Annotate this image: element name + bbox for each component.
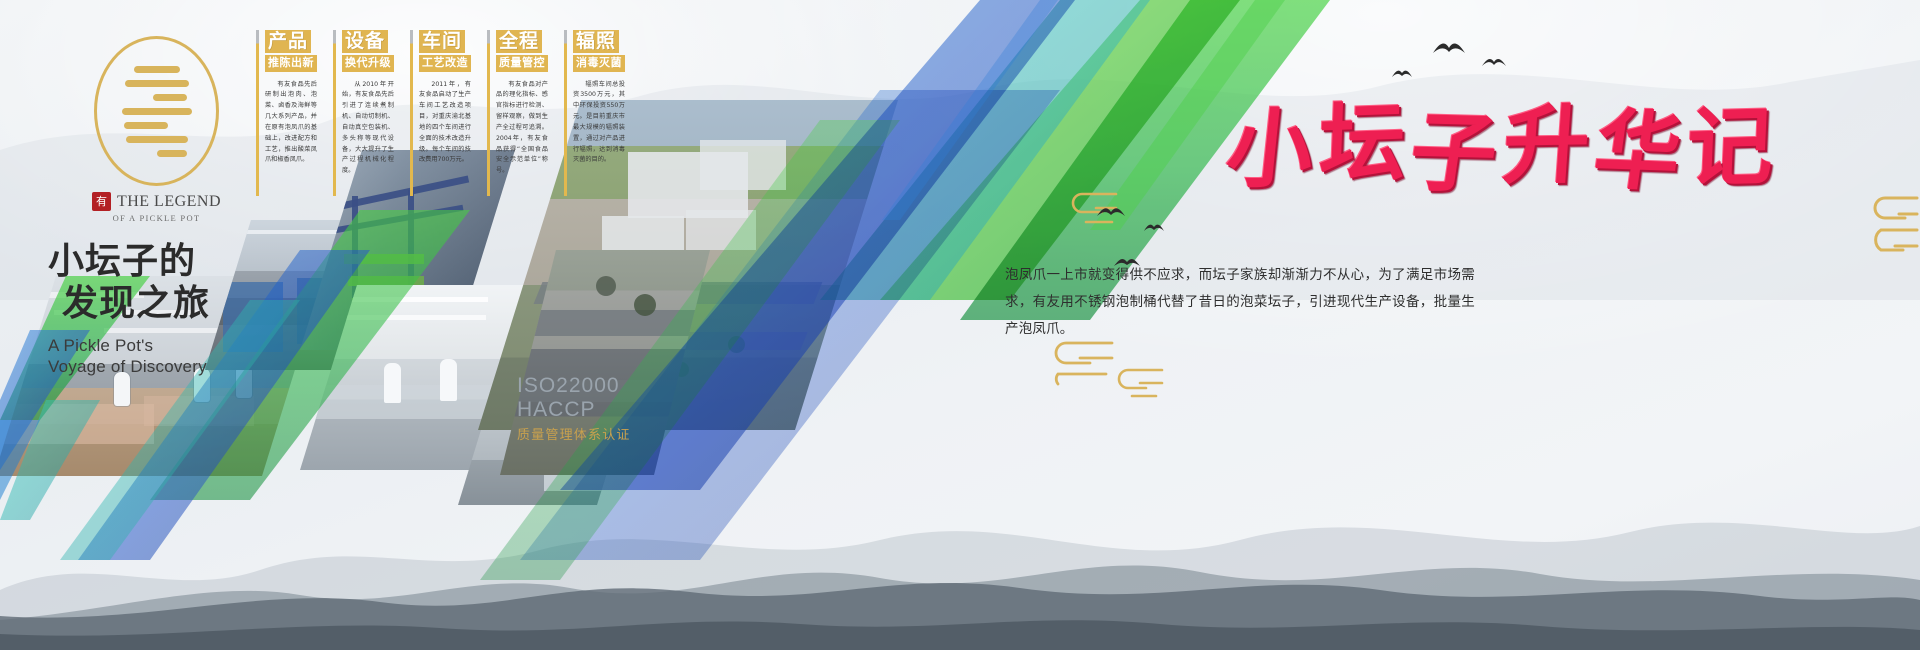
legend-sub-text: OF A PICKLE POT (44, 213, 269, 223)
bird-icon (1096, 205, 1126, 219)
hero-title: 小 坛 子 升 华 记 (1190, 95, 1810, 205)
bird-icon (1432, 40, 1466, 56)
brand-title-en-line2: Voyage of Discovery (48, 356, 269, 377)
info-column-irradiation: 辐照 消毒灭菌 辐照车间总投资3500万元，其中环保投资550万元。是目前重庆市… (564, 30, 626, 177)
hero-title-char: 子 (1404, 110, 1503, 198)
red-stamp-icon: 有 (92, 192, 111, 211)
certification-cn: 质量管理体系认证 (517, 424, 631, 443)
column-head-main: 设备 (342, 30, 388, 53)
column-head-main: 车间 (419, 30, 465, 53)
brand-title-cn-line2: 发现之旅 (48, 283, 269, 325)
info-column-quality: 全程 质量管控 有友食品对产品的理化指标、感官指标进行检测、留样观察，做到生产全… (487, 30, 549, 177)
gold-cloud-motif-right (1855, 192, 1919, 254)
column-head-sub: 工艺改造 (419, 55, 471, 72)
column-head-sub: 质量管控 (496, 55, 548, 72)
brand-title-en-line1: A Pickle Pot's (48, 335, 269, 356)
hero-title-char: 华 (1589, 108, 1687, 197)
column-head-sub: 消毒灭菌 (573, 55, 625, 72)
certification-iso: ISO22000 (517, 374, 631, 398)
gold-cloud-motif-lower (1040, 338, 1114, 386)
column-head-main: 辐照 (573, 30, 619, 53)
column-head-sub: 换代升级 (342, 55, 394, 72)
banner-canvas: 有 THE LEGEND OF A PICKLE POT 小坛子的 发现之旅 A… (0, 0, 1920, 650)
column-rule (410, 30, 413, 196)
gold-cloud-motif-mid (1060, 190, 1118, 230)
column-body-text: 有友食品对产品的理化指标、感官指标进行检测、留样观察，做到生产全过程可追溯。20… (496, 80, 548, 178)
column-rule (333, 30, 336, 196)
mountain-ridge-front (0, 530, 1920, 650)
certification-badge: ISO22000 HACCP 质量管理体系认证 (517, 374, 631, 443)
production-hall-photo (300, 285, 530, 470)
info-column-equipment: 设备 换代升级 从2010年开始，有友食品先后引进了连续煮制机、自动切制机、自动… (333, 30, 395, 177)
hero-paragraph: 泡凤爪一上市就变得供不应求，而坛子家族却渐渐力不从心，为了满足市场需求，有友用不… (1005, 262, 1475, 343)
bird-icon (1481, 56, 1507, 68)
column-head-main: 产品 (265, 30, 311, 53)
brand-title-cn-line1: 小坛子的 (48, 241, 269, 283)
brand-block: 有 THE LEGEND OF A PICKLE POT 小坛子的 发现之旅 A… (44, 36, 269, 377)
brand-title-cn: 小坛子的 发现之旅 (44, 241, 269, 325)
mountain-ridge-near (0, 460, 1920, 650)
legend-en-text: THE LEGEND (117, 193, 221, 211)
column-rule (564, 30, 567, 196)
column-body-text: 2011年，有友食品启动了生产车间工艺改造项目，对重庆渝北基地的四个车间进行全面… (419, 80, 471, 167)
legend-row: 有 THE LEGEND (44, 192, 269, 211)
certification-haccp: HACCP (517, 398, 631, 422)
brand-title-en: A Pickle Pot's Voyage of Discovery (44, 335, 269, 378)
info-columns: 产品 推陈出新 有友食品先后研制出泡肉、泡菜、卤香及海鲜等几大系列产品，并在原有… (256, 30, 626, 177)
bird-icon (1143, 222, 1165, 233)
mountain-ridge-mid (0, 400, 1920, 650)
hero-title-char: 升 (1500, 102, 1592, 189)
column-head-main: 全程 (496, 30, 542, 53)
gold-cloud-motif-bottom (1108, 366, 1164, 402)
column-head-sub: 推陈出新 (265, 55, 317, 72)
column-body-text: 有友食品先后研制出泡肉、泡菜、卤香及海鲜等几大系列产品，并在原有泡凤爪的基础上，… (265, 80, 317, 167)
hero-title-char: 小 (1222, 107, 1317, 193)
pickle-pot-seal-icon (94, 36, 219, 186)
column-rule (487, 30, 490, 196)
column-body-text: 从2010年开始，有友食品先后引进了连续煮制机、自动切制机、自动真空包装机、多头… (342, 80, 394, 178)
hero-title-char: 记 (1685, 104, 1775, 192)
column-body-text: 辐照车间总投资3500万元，其中环保投资550万元。是目前重庆市最大规模的辐照装… (573, 80, 625, 167)
info-column-workshop: 车间 工艺改造 2011年，有友食品启动了生产车间工艺改造项目，对重庆渝北基地的… (410, 30, 472, 177)
hero-title-char: 坛 (1318, 100, 1407, 189)
bird-icon (1391, 68, 1413, 79)
